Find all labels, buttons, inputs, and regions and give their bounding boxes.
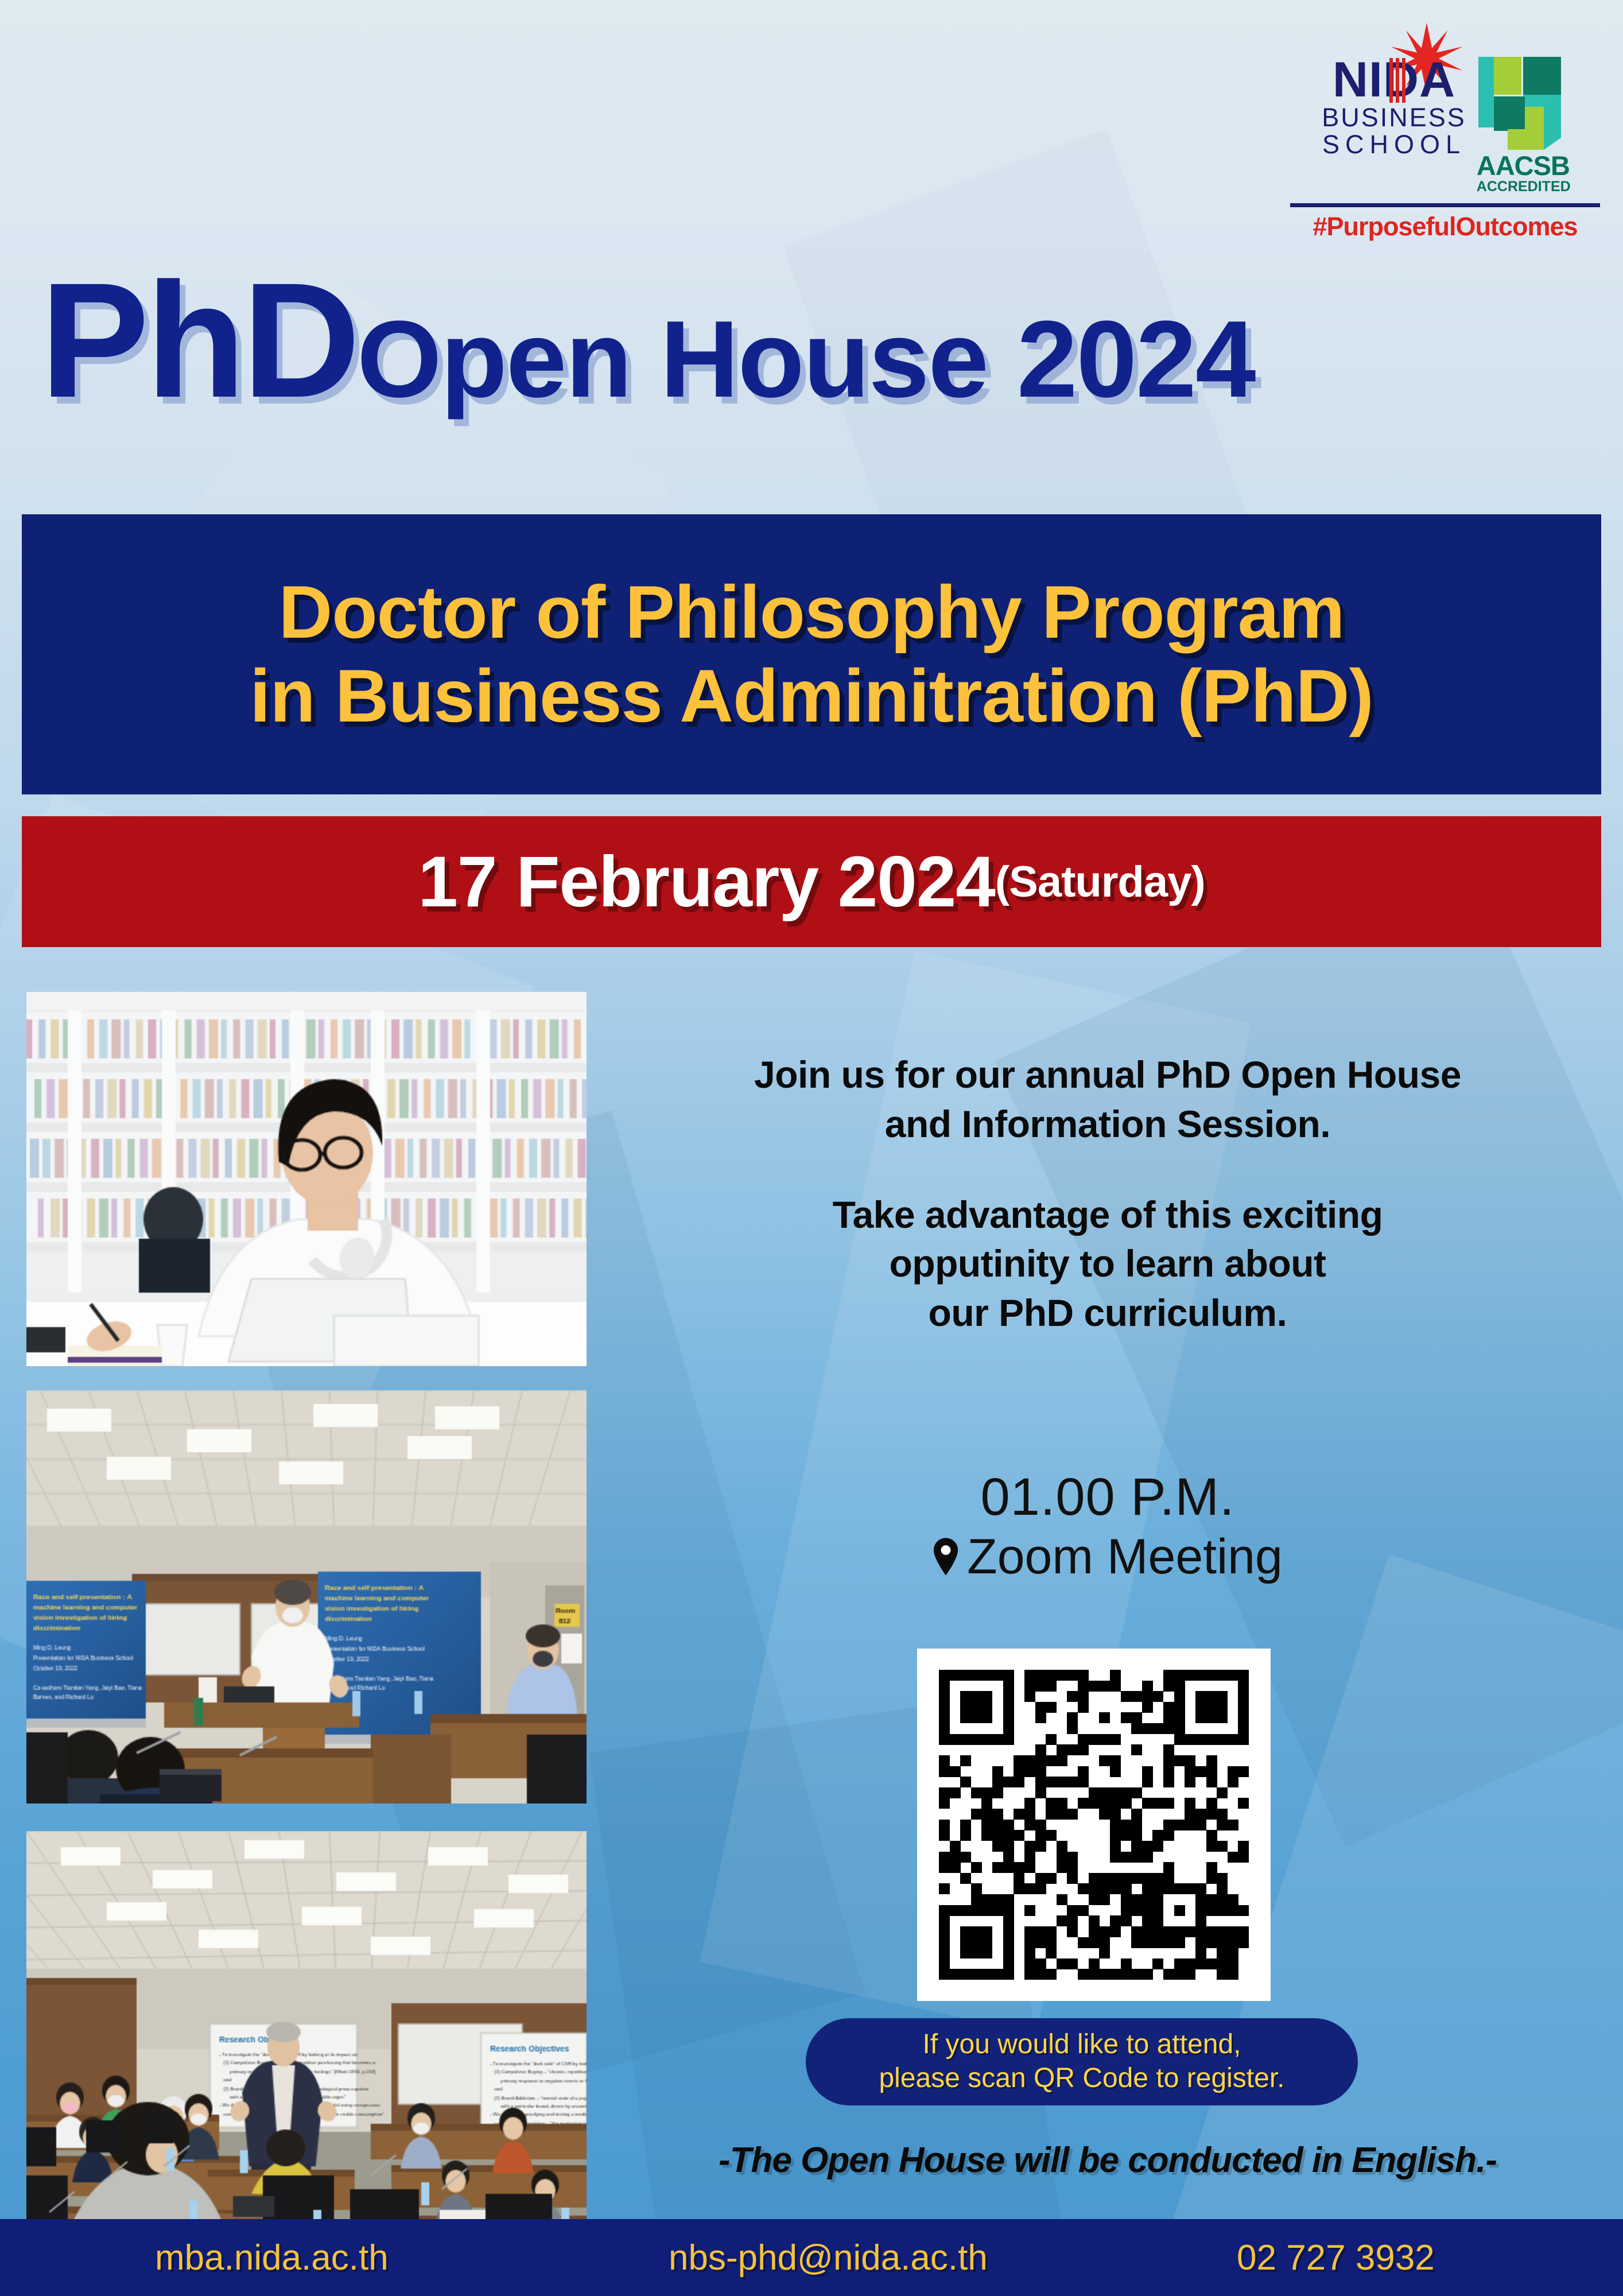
- title-lead: PhD: [40, 249, 357, 432]
- event-time: 01.00 P.M.: [608, 1469, 1607, 1525]
- nida-business-label: BUSINESS: [1322, 104, 1466, 131]
- blurb-line-5: our PhD curriculum.: [608, 1289, 1607, 1338]
- nida-logo: NIDA BUSINESS SCHOOL: [1322, 55, 1466, 158]
- program-line-1: Doctor of Philosophy Program: [278, 571, 1344, 654]
- footer-email[interactable]: nbs-phd@nida.ac.th: [669, 2237, 988, 2278]
- event-date-banner: 17 February 2024(Saturday): [22, 816, 1601, 947]
- page-title: PhDOpen House 2024: [40, 247, 1255, 435]
- blurb-line-2: and Information Session.: [608, 1100, 1607, 1149]
- blurb-line-3: Take advantage of this exciting: [608, 1190, 1607, 1240]
- program-line-2: in Business Adminitration (PhD): [250, 654, 1373, 738]
- poster-canvas: NIDA BUSINESS SCHOOL: [0, 0, 1623, 2296]
- photo-seminar-presentation-room: [26, 1390, 587, 1804]
- footer-website[interactable]: mba.nida.ac.th: [155, 2237, 389, 2278]
- aacsb-title: AACSB: [1477, 152, 1568, 179]
- blurb-line-4: opputinity to learn about: [608, 1239, 1607, 1289]
- nida-bars-icon: [1389, 58, 1409, 103]
- location-pin-icon: [933, 1538, 959, 1576]
- cta-line-1: If you would like to attend,: [923, 2028, 1241, 2062]
- aacsb-mark-icon: [1477, 55, 1563, 152]
- blurb-line-1: Join us for our annual PhD Open House: [608, 1050, 1607, 1100]
- title-rest: Open House 2024: [357, 298, 1255, 420]
- event-date: 17 February 2024: [418, 841, 995, 923]
- photo-student-studying-in-library: [26, 992, 587, 1366]
- aacsb-subtitle: ACCREDITED: [1477, 179, 1568, 195]
- brand-hashtag: #PurposefulOutcomes: [1284, 212, 1606, 242]
- logo-divider: [1290, 203, 1600, 207]
- event-weekday: (Saturday): [995, 857, 1205, 907]
- brand-logo-block: NIDA BUSINESS SCHOOL: [1284, 55, 1606, 242]
- event-time-venue: 01.00 P.M. Zoom Meeting: [608, 1469, 1607, 1585]
- event-description: Join us for our annual PhD Open House an…: [608, 1050, 1607, 1338]
- registration-qr-code[interactable]: [917, 1649, 1271, 2001]
- contact-footer: mba.nida.ac.th nbs-phd@nida.ac.th 02 727…: [0, 2219, 1623, 2296]
- cta-line-2: please scan QR Code to register.: [879, 2062, 1284, 2096]
- photo-lecture-hall-audience: [26, 1831, 587, 2233]
- language-note: -The Open House will be conducted in Eng…: [608, 2140, 1607, 2181]
- aacsb-badge: AACSB ACCREDITED: [1477, 55, 1568, 195]
- event-venue: Zoom Meeting: [967, 1529, 1283, 1585]
- footer-phone[interactable]: 02 727 3932: [1237, 2237, 1435, 2278]
- program-name-banner: Doctor of Philosophy Program in Business…: [22, 514, 1601, 794]
- nida-school-label: SCHOOL: [1322, 131, 1466, 158]
- blurb-spacer: [608, 1149, 1607, 1190]
- scan-to-register-button[interactable]: If you would like to attend, please scan…: [806, 2018, 1358, 2105]
